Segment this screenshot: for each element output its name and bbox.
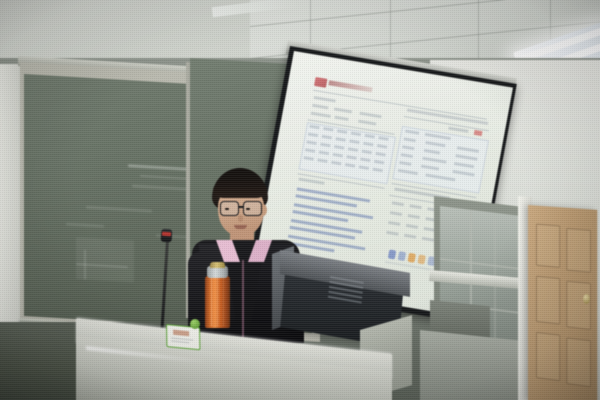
side-cabinet (420, 330, 530, 400)
microphone-indicator (162, 232, 171, 237)
glasses-bridge (238, 206, 244, 208)
door-knob-icon[interactable] (583, 294, 590, 304)
site-logo-icon (314, 77, 327, 88)
presenter-hair-fringe (213, 178, 267, 198)
presenter-nose (238, 215, 243, 222)
presenter-mouth (234, 225, 247, 229)
badge-icon-1 (388, 249, 397, 259)
label-seal-icon (190, 319, 200, 329)
badge-icon-4 (417, 254, 426, 264)
photo-canvas: Classroom presentation — speaker at podi… (0, 0, 600, 400)
badge-icon-2 (398, 251, 407, 261)
badge-icon-3 (407, 253, 416, 263)
shirt-placket (242, 260, 244, 342)
thermos-body (205, 276, 230, 328)
glasses-lens-left (220, 201, 239, 216)
thermos-flask[interactable] (205, 262, 230, 328)
site-title-text (328, 80, 372, 92)
thermos-lid (210, 262, 225, 268)
